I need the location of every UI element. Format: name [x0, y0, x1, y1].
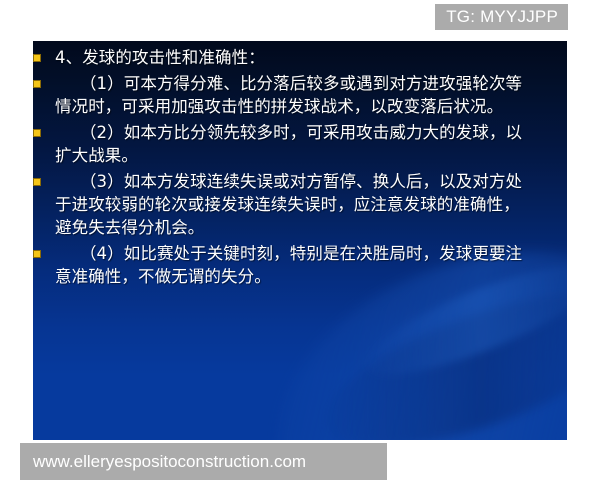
square-bullet-icon: [33, 250, 41, 258]
list-item: 4、发球的攻击性和准确性：: [33, 46, 533, 69]
bullet-text: （2）如本方比分领先较多时，可采用攻击威力大的发球，以扩大战果。: [55, 121, 533, 167]
bullet-text: （1）可本方得分难、比分落后较多或遇到对方进攻强轮次等情况时，可采用加强攻击性的…: [55, 72, 533, 118]
site-url-watermark: www.elleryespositoconstruction.com: [20, 443, 387, 480]
square-bullet-icon: [33, 129, 41, 137]
slide-bullet-list: 4、发球的攻击性和准确性： （1）可本方得分难、比分落后较多或遇到对方进攻强轮次…: [33, 46, 533, 291]
list-item: （2）如本方比分领先较多时，可采用攻击威力大的发球，以扩大战果。: [33, 121, 533, 167]
bullet-text: （4）如比赛处于关键时刻，特别是在决胜局时，发球更要注意准确性，不做无谓的失分。: [55, 242, 533, 288]
telegram-watermark-badge: TG: MYYJJPP: [435, 4, 568, 30]
list-item: （3）如本方发球连续失误或对方暂停、换人后，以及对方处于进攻较弱的轮次或接发球连…: [33, 170, 533, 239]
square-bullet-icon: [33, 54, 41, 62]
list-item: （1）可本方得分难、比分落后较多或遇到对方进攻强轮次等情况时，可采用加强攻击性的…: [33, 72, 533, 118]
square-bullet-icon: [33, 80, 41, 88]
bullet-text: （3）如本方发球连续失误或对方暂停、换人后，以及对方处于进攻较弱的轮次或接发球连…: [55, 170, 533, 239]
bullet-text: 4、发球的攻击性和准确性：: [55, 46, 533, 69]
screenshot-canvas: TG: MYYJJPP 4、发球的攻击性和准确性： （1）可本方得分难、比分落后…: [0, 0, 600, 480]
list-item: （4）如比赛处于关键时刻，特别是在决胜局时，发球更要注意准确性，不做无谓的失分。: [33, 242, 533, 288]
square-bullet-icon: [33, 178, 41, 186]
